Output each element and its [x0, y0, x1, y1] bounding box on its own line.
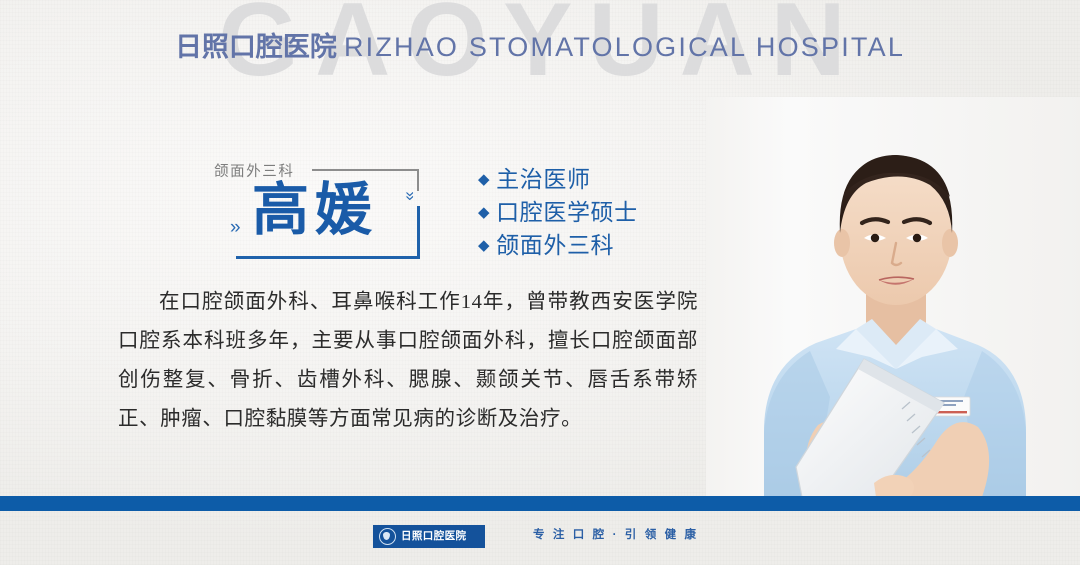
doctor-profile-poster: GAOYUAN 日照口腔医院RIZHAO STOMATOLOGICAL HOSP…	[0, 0, 1080, 565]
chevron-right-icon: »	[403, 191, 420, 197]
diamond-bullet-icon: ◆	[478, 172, 490, 187]
footer: 日照口腔医院 专 注 口 腔 · 引 领 健 康	[0, 511, 1080, 565]
credential-label: 颌面外三科	[496, 234, 614, 257]
frame-right-segment	[417, 206, 420, 258]
department-rule	[312, 169, 418, 171]
hospital-name-en: RIZHAO STOMATOLOGICAL HOSPITAL	[344, 32, 905, 62]
hospital-name-cn: 日照口腔医院	[175, 32, 337, 62]
chevron-left-icon: »	[230, 218, 238, 237]
frame-top-right-segment	[417, 169, 419, 191]
list-item: ◆ 主治医师	[478, 168, 638, 191]
diamond-bullet-icon: ◆	[478, 238, 490, 253]
list-item: ◆ 颌面外三科	[478, 234, 638, 257]
doctor-bio: 在口腔颌面外科、耳鼻喉科工作14年，曾带教西安医学院口腔系本科班多年，主要从事口…	[118, 283, 698, 439]
list-item: ◆ 口腔医学硕士	[478, 201, 638, 224]
credential-label: 口腔医学硕士	[496, 201, 638, 224]
frame-bottom-segment	[236, 256, 420, 259]
name-block: 颌面外三科 » » 高媛	[214, 158, 432, 262]
footer-tagline: 专 注 口 腔 · 引 领 健 康	[533, 530, 699, 542]
credentials-list: ◆ 主治医师 ◆ 口腔医学硕士 ◆ 颌面外三科	[478, 168, 638, 267]
page-title: 日照口腔医院RIZHAO STOMATOLOGICAL HOSPITAL	[0, 33, 1080, 61]
footer-logo-text: 日照口腔医院	[401, 531, 466, 542]
footer-logo: 日照口腔医院	[373, 525, 485, 548]
credential-label: 主治医师	[496, 168, 590, 191]
doctor-portrait	[706, 97, 1080, 497]
diamond-bullet-icon: ◆	[478, 205, 490, 220]
footer-accent-bar	[0, 496, 1080, 511]
hospital-emblem-icon	[379, 528, 396, 545]
doctor-name: 高媛	[252, 182, 378, 239]
